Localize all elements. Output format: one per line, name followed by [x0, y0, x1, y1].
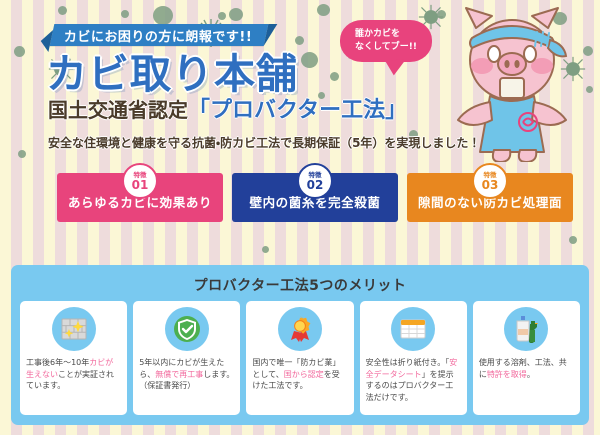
announcement-ribbon-label: カビにお困りの方に朗報です!!: [64, 26, 252, 45]
mold-blob-icon: [262, 246, 269, 253]
merit-text-highlight: 無償で再工事: [155, 370, 203, 379]
merit-text-part: 。: [527, 370, 535, 379]
feature-button-02[interactable]: 特徴 02 壁内の菌糸を完全殺菌: [232, 173, 398, 222]
merits-panel-title: プロバクター工法5つのメリット: [11, 275, 589, 295]
page-title: カビ取り本舗: [46, 52, 298, 96]
merit-card-text: 使用する溶剤、工法、共に特許を取得。: [479, 357, 574, 380]
mascot-speech-bubble-text: 誰かカビを なくしてブー!!: [355, 28, 417, 54]
feature-badge-03: 特徴 03: [472, 163, 508, 199]
pig-mascot-icon: [432, 2, 592, 162]
subtitle-method-name: 「プロバクター工法」: [188, 98, 407, 123]
mascot-speech-bubble: 誰かカビを なくしてブー!!: [340, 20, 432, 62]
feature-badge-number: 03: [482, 179, 499, 191]
merit-card-text: 工事後6年～10年カビが生えないことが実証されています。: [26, 357, 121, 392]
brick-wall-sparkle-icon: [52, 307, 96, 351]
merit-text-part: 安全性は折り紙付き。「: [366, 358, 450, 367]
merit-text-part: 工事後6年～10年: [26, 358, 89, 367]
feature-button-03[interactable]: 特徴 03 隙間のない防カビ処理面: [407, 173, 573, 222]
merits-card-list: 工事後6年～10年カビが生えないことが実証されています。 5年以内にカビが生えた…: [20, 301, 580, 415]
mold-blob-icon: [295, 36, 304, 45]
page-root: カビにお困りの方に朗報です!! カビ取り本舗 国土交通省認定「プロバクター工法」…: [0, 0, 600, 435]
speech-line-1: 誰かカビを: [355, 28, 417, 41]
mold-blob-icon: [58, 6, 67, 15]
feature-badge-01: 特徴 01: [122, 163, 158, 199]
merit-card-text: 安全性は折り紙付き。「安全データシート」を提示するのはプロバクター工法だけです。: [366, 357, 461, 403]
feature-button-01[interactable]: 特徴 01 あらゆるカビに効果あり: [57, 173, 223, 222]
merit-card[interactable]: 使用する溶剤、工法、共に特許を取得。: [473, 301, 580, 415]
award-medal-icon: [278, 307, 322, 351]
mold-blob-icon: [229, 8, 243, 21]
mold-blob-icon: [14, 46, 25, 57]
merit-card[interactable]: 安全性は折り紙付き。「安全データシート」を提示するのはプロバクター工法だけです。: [360, 301, 467, 415]
speech-line-2: なくしてブー!!: [355, 41, 417, 54]
merit-text-highlight: 特許を取得: [487, 370, 527, 379]
merit-card-text: 国内で唯一「防カビ業」として、国から認定を受けた工法です。: [252, 357, 347, 392]
mold-blob-icon: [121, 10, 129, 18]
mold-blob-icon: [569, 236, 577, 244]
feature-badge-02: 特徴 02: [297, 163, 333, 199]
feature-button-row: 特徴 01 あらゆるカビに効果あり 特徴 02 壁内の菌糸を完全殺菌 特徴 03…: [0, 173, 600, 230]
mold-blob-icon: [301, 52, 318, 68]
subtitle: 国土交通省認定「プロバクター工法」: [48, 98, 407, 123]
merit-card[interactable]: 5年以内にカビが生えたら、無償で再工事します。（保証書発行）: [133, 301, 240, 415]
subtitle-certification: 国土交通省認定: [48, 98, 188, 122]
announcement-ribbon: カビにお困りの方に朗報です!!: [50, 24, 269, 46]
shield-check-icon: [165, 307, 209, 351]
merit-card-text: 5年以内にカビが生えたら、無償で再工事します。（保証書発行）: [139, 357, 234, 392]
spray-bottle-icon: [504, 307, 548, 351]
merit-card[interactable]: 工事後6年～10年カビが生えないことが実証されています。: [20, 301, 127, 415]
lead-text: 安全な住環境と健康を守る抗菌・防カビ工法で長期保証（5年）を実現しました！: [48, 134, 480, 151]
feature-badge-number: 02: [307, 179, 324, 191]
data-sheet-icon: [391, 307, 435, 351]
mold-blob-icon: [18, 150, 26, 158]
mold-blob-icon: [153, 6, 173, 25]
bottom-stripe-edge: [0, 429, 600, 435]
merit-text-highlight: 国から認定: [284, 370, 324, 379]
feature-badge-number: 01: [132, 179, 149, 191]
merit-card[interactable]: 国内で唯一「防カビ業」として、国から認定を受けた工法です。: [246, 301, 353, 415]
mold-blob-icon: [317, 4, 330, 16]
mold-blob-icon: [330, 72, 339, 81]
merits-panel: プロバクター工法5つのメリット: [11, 265, 589, 425]
